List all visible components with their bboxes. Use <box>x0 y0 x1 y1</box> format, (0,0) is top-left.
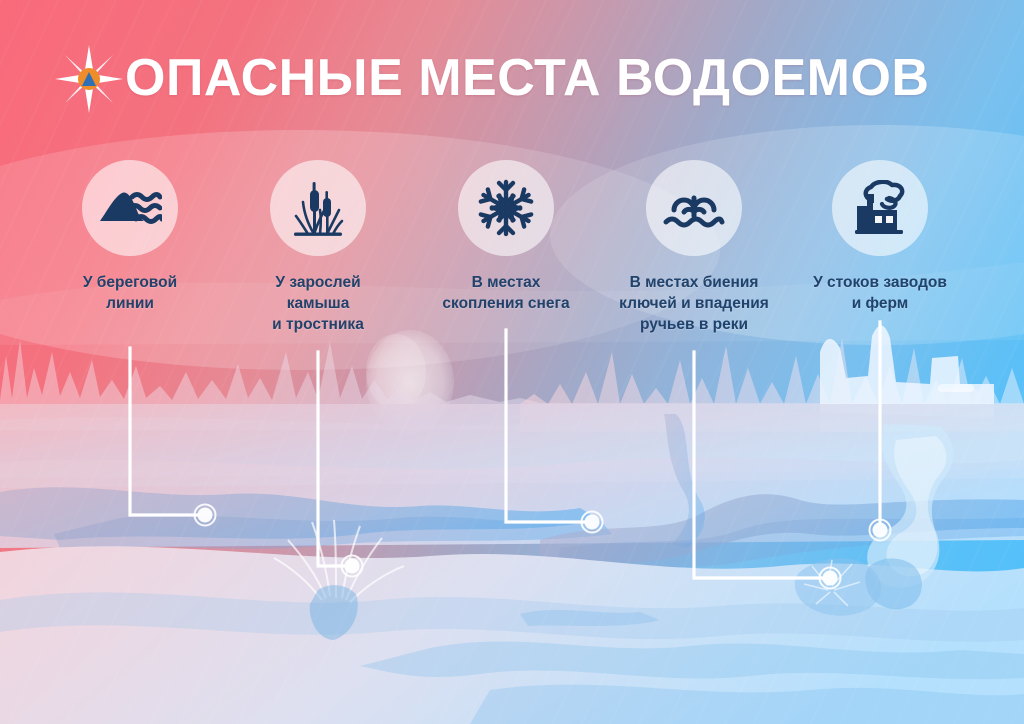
hazard-item-factory-farm-outflow[interactable]: У стоков заводов и ферм <box>780 160 980 314</box>
leader-dot-factory-farm-outflow <box>873 523 888 538</box>
caption-reeds: У зарослей камыша и тростника <box>218 272 418 335</box>
spring-fountain-icon <box>662 184 726 232</box>
snowflake-icon <box>477 179 535 237</box>
caption-springs-streams: В местах биения ключей и впадения ручьев… <box>594 272 794 335</box>
badge-shoreline[interactable] <box>82 160 178 256</box>
leader-lines <box>0 0 1024 724</box>
cattail-reeds-icon <box>290 178 346 238</box>
leader-dot-snow-accumulation <box>585 515 600 530</box>
badge-snow-accumulation[interactable] <box>458 160 554 256</box>
badge-factory-farm-outflow[interactable] <box>832 160 928 256</box>
caption-snow-accumulation: В местах скопления снега <box>406 272 606 314</box>
factory-smoke-icon <box>851 180 909 236</box>
shore-waves-icon <box>98 183 162 233</box>
badge-springs-streams[interactable] <box>646 160 742 256</box>
leader-dot-shoreline <box>198 508 213 523</box>
leader-dot-springs-streams <box>823 571 838 586</box>
hazard-item-reeds[interactable]: У зарослей камыша и тростника <box>218 160 418 335</box>
caption-factory-farm-outflow: У стоков заводов и ферм <box>780 272 980 314</box>
hazard-item-springs-streams[interactable]: В местах биения ключей и впадения ручьев… <box>594 160 794 335</box>
caption-shoreline: У береговой линии <box>30 272 230 314</box>
badge-reeds[interactable] <box>270 160 366 256</box>
hazard-item-snow-accumulation[interactable]: В местах скопления снега <box>406 160 606 314</box>
leader-dot-reeds <box>345 559 360 574</box>
leader-line-snow-accumulation <box>506 330 585 522</box>
leader-line-shoreline <box>130 348 198 515</box>
infographic-poster: ОПАСНЫЕ МЕСТА ВОДОЕМОВ <box>0 0 1024 724</box>
hazard-item-shoreline[interactable]: У береговой линии <box>30 160 230 314</box>
leader-line-springs-streams <box>694 352 823 578</box>
leader-line-reeds <box>318 352 345 566</box>
